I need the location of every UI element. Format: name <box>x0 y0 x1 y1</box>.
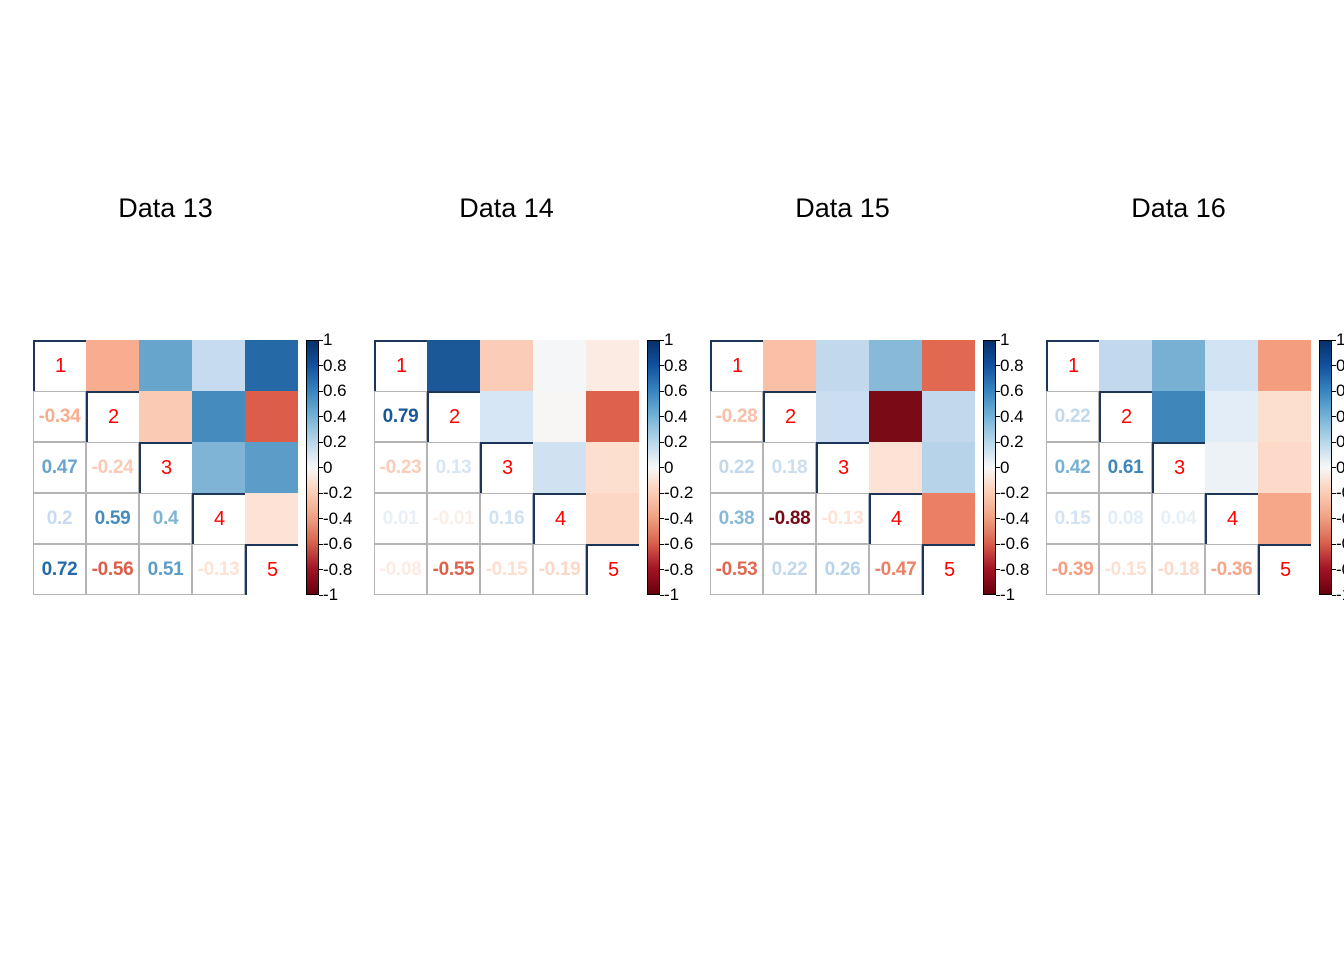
colorbar-tick: 0.4 <box>996 407 1024 427</box>
matrix-color-cell <box>245 340 298 391</box>
matrix-diagonal-cell: 4 <box>869 493 922 544</box>
matrix-value-cell: -0.13 <box>192 544 245 595</box>
matrix-color-cell <box>1205 442 1258 493</box>
colorbar-tick: -0.2 <box>660 483 693 503</box>
colorbar <box>306 340 319 595</box>
tick-label: -0.6 <box>1336 534 1344 554</box>
matrix-value-cell: -0.01 <box>427 493 480 544</box>
tick-label: -1 <box>323 585 338 605</box>
tick-label: 0.2 <box>323 432 347 452</box>
colorbar-tick: 0.2 <box>660 432 688 452</box>
matrix-diagonal-cell: 3 <box>139 442 192 493</box>
tick-label: -0.4 <box>1336 509 1344 529</box>
matrix-color-cell <box>586 493 639 544</box>
matrix-color-cell <box>1258 442 1311 493</box>
matrix-diagonal-cell: 2 <box>427 391 480 442</box>
matrix-color-cell <box>869 391 922 442</box>
matrix-value-cell: 0.38 <box>710 493 763 544</box>
matrix-color-cell <box>245 493 298 544</box>
colorbar-tick: 0.2 <box>1332 432 1344 452</box>
tick-label: 1 <box>664 330 673 350</box>
tick-label: -0.2 <box>323 483 352 503</box>
colorbar-ticks: 10.80.60.40.20-0.2-0.4-0.6-0.8-1 <box>1332 340 1344 595</box>
matrix-diagonal-cell: 3 <box>1152 442 1205 493</box>
matrix-color-cell <box>480 391 533 442</box>
matrix-diagonal-cell: 2 <box>763 391 816 442</box>
tick-label: 0.2 <box>1336 432 1344 452</box>
colorbar-tick: -0.2 <box>319 483 352 503</box>
colorbar-tick: -0.4 <box>660 509 693 529</box>
colorbar-tick: -0.6 <box>1332 534 1344 554</box>
tick-label: -0.2 <box>1336 483 1344 503</box>
colorbar-tick: 0.6 <box>319 381 347 401</box>
tick-label: 0.2 <box>1000 432 1024 452</box>
matrix-color-cell <box>245 442 298 493</box>
tick-label: 0.4 <box>1000 407 1024 427</box>
tick-label: 0.6 <box>1000 381 1024 401</box>
matrix-color-cell <box>922 391 975 442</box>
matrix-color-cell <box>816 340 869 391</box>
colorbar-tick: 0 <box>1332 458 1344 478</box>
matrix-value-cell: 0.61 <box>1099 442 1152 493</box>
tick-label: -0.8 <box>1336 560 1344 580</box>
matrix-value-cell: -0.13 <box>816 493 869 544</box>
matrix-color-cell <box>139 340 192 391</box>
colorbar <box>647 340 660 595</box>
matrix-value-cell: 0.47 <box>33 442 86 493</box>
colorbar-ticks: 10.80.60.40.20-0.2-0.4-0.6-0.8-1 <box>319 340 367 595</box>
matrix-value-cell: -0.36 <box>1205 544 1258 595</box>
colorbar-tick: 0.8 <box>319 356 347 376</box>
colorbar-tick: -1 <box>996 585 1015 605</box>
colorbar-ticks: 10.80.60.40.20-0.2-0.4-0.6-0.8-1 <box>996 340 1044 595</box>
tick-label: 0.8 <box>1000 356 1024 376</box>
colorbar-tick: -0.6 <box>319 534 352 554</box>
matrix-diagonal-cell: 2 <box>1099 391 1152 442</box>
matrix-diagonal-cell: 2 <box>86 391 139 442</box>
colorbar-tick: 1 <box>660 330 673 350</box>
matrix-value-cell: 0.01 <box>374 493 427 544</box>
colorbar-tick: 0.4 <box>660 407 688 427</box>
tick-label: 0.4 <box>323 407 347 427</box>
matrix-color-cell <box>586 442 639 493</box>
colorbar-tick: -0.8 <box>660 560 693 580</box>
matrix-color-cell <box>586 340 639 391</box>
matrix-diagonal-cell: 1 <box>374 340 427 391</box>
tick-label: 0.8 <box>323 356 347 376</box>
colorbar-tick: -0.2 <box>1332 483 1344 503</box>
matrix-diagonal-cell: 1 <box>710 340 763 391</box>
matrix-value-cell: -0.08 <box>374 544 427 595</box>
colorbar-tick: -0.8 <box>319 560 352 580</box>
matrix-diagonal-cell: 5 <box>1258 544 1311 595</box>
tick-label: -1 <box>1336 585 1344 605</box>
matrix-diagonal-cell: 5 <box>586 544 639 595</box>
matrix-value-cell: -0.47 <box>869 544 922 595</box>
matrix-value-cell: 0.18 <box>763 442 816 493</box>
tick-label: 1 <box>1000 330 1009 350</box>
matrix-value-cell: 0.08 <box>1099 493 1152 544</box>
tick-label: 0 <box>323 458 332 478</box>
matrix-color-cell <box>139 391 192 442</box>
matrix-diagonal-cell: 4 <box>1205 493 1258 544</box>
tick-label: -0.8 <box>1000 560 1029 580</box>
matrix-color-cell <box>922 493 975 544</box>
colorbar-tick: 0 <box>660 458 673 478</box>
matrix-color-cell <box>869 442 922 493</box>
colorbar-tick: 0.4 <box>1332 407 1344 427</box>
matrix-color-cell <box>533 442 586 493</box>
matrix-diagonal-cell: 1 <box>33 340 86 391</box>
matrix-color-cell <box>869 340 922 391</box>
colorbar-tick: -0.4 <box>319 509 352 529</box>
matrix-value-cell: 0.15 <box>1046 493 1099 544</box>
matrix-diagonal-cell: 4 <box>192 493 245 544</box>
matrix-color-cell <box>1152 340 1205 391</box>
tick-label: -1 <box>1000 585 1015 605</box>
matrix-color-cell <box>245 391 298 442</box>
matrix-value-cell: 0.04 <box>1152 493 1205 544</box>
colorbar-tick: 1 <box>996 330 1009 350</box>
matrix-value-cell: -0.55 <box>427 544 480 595</box>
tick-label: -0.8 <box>323 560 352 580</box>
tick-label: 0.6 <box>1336 381 1344 401</box>
matrix-color-cell <box>192 340 245 391</box>
tick-label: 0 <box>1336 458 1344 478</box>
matrix-diagonal-cell: 3 <box>816 442 869 493</box>
matrix-color-cell <box>1152 391 1205 442</box>
colorbar-tick: -1 <box>319 585 338 605</box>
matrix-color-cell <box>586 391 639 442</box>
tick-label: 0.4 <box>1336 407 1344 427</box>
matrix-value-cell: -0.34 <box>33 391 86 442</box>
matrix-color-cell <box>922 442 975 493</box>
matrix-color-cell <box>192 442 245 493</box>
colorbar-tick: -0.2 <box>996 483 1029 503</box>
colorbar-tick: 0.4 <box>319 407 347 427</box>
colorbar-tick: -0.4 <box>1332 509 1344 529</box>
correlation-matrix: 1-0.3420.47-0.2430.20.590.440.72-0.560.5… <box>33 340 298 595</box>
tick-label: -0.4 <box>1000 509 1029 529</box>
matrix-color-cell <box>816 391 869 442</box>
matrix-color-cell <box>86 340 139 391</box>
matrix-color-cell <box>922 340 975 391</box>
tick-label: 0.6 <box>323 381 347 401</box>
colorbar-tick: -0.8 <box>996 560 1029 580</box>
matrix-value-cell: 0.4 <box>139 493 192 544</box>
tick-label: 0.6 <box>664 381 688 401</box>
colorbar-tick: -1 <box>1332 585 1344 605</box>
colorbar-tick: 0.8 <box>996 356 1024 376</box>
tick-label: 0.8 <box>664 356 688 376</box>
matrix-diagonal-cell: 5 <box>922 544 975 595</box>
matrix-color-cell <box>480 340 533 391</box>
tick-label: -0.2 <box>1000 483 1029 503</box>
matrix-value-cell: -0.88 <box>763 493 816 544</box>
tick-label: 1 <box>1336 330 1344 350</box>
panel-title: Data 16 <box>1046 193 1311 224</box>
matrix-value-cell: 0.16 <box>480 493 533 544</box>
tick-label: -1 <box>664 585 679 605</box>
correlation-matrix: 10.2220.420.6130.150.080.044-0.39-0.15-0… <box>1046 340 1311 595</box>
tick-label: 0 <box>664 458 673 478</box>
tick-label: -0.8 <box>664 560 693 580</box>
colorbar-tick: 0 <box>319 458 332 478</box>
matrix-value-cell: -0.23 <box>374 442 427 493</box>
matrix-value-cell: 0.26 <box>816 544 869 595</box>
matrix-value-cell: 0.13 <box>427 442 480 493</box>
matrix-diagonal-cell: 3 <box>480 442 533 493</box>
matrix-value-cell: -0.19 <box>533 544 586 595</box>
panel-title: Data 14 <box>374 193 639 224</box>
colorbar-tick: -0.6 <box>660 534 693 554</box>
matrix-color-cell <box>1099 340 1152 391</box>
colorbar-tick: 0.6 <box>660 381 688 401</box>
colorbar <box>1319 340 1332 595</box>
colorbar-tick: 0.6 <box>996 381 1024 401</box>
matrix-value-cell: 0.42 <box>1046 442 1099 493</box>
matrix-color-cell <box>1205 391 1258 442</box>
matrix-diagonal-cell: 4 <box>533 493 586 544</box>
colorbar-tick: 1 <box>1332 330 1344 350</box>
matrix-color-cell <box>427 340 480 391</box>
tick-label: -0.6 <box>664 534 693 554</box>
panel-title: Data 13 <box>33 193 298 224</box>
tick-label: 0 <box>1000 458 1009 478</box>
tick-label: -0.4 <box>664 509 693 529</box>
matrix-value-cell: 0.2 <box>33 493 86 544</box>
matrix-color-cell <box>1258 493 1311 544</box>
colorbar-tick: 1 <box>319 330 332 350</box>
colorbar-tick: 0.8 <box>1332 356 1344 376</box>
matrix-color-cell <box>533 340 586 391</box>
colorbar-tick: -1 <box>660 585 679 605</box>
tick-label: -0.6 <box>323 534 352 554</box>
matrix-color-cell <box>1258 340 1311 391</box>
matrix-value-cell: -0.28 <box>710 391 763 442</box>
matrix-color-cell <box>763 340 816 391</box>
panel-title: Data 15 <box>710 193 975 224</box>
tick-label: -0.2 <box>664 483 693 503</box>
tick-label: 0.4 <box>664 407 688 427</box>
tick-label: -0.4 <box>323 509 352 529</box>
matrix-value-cell: 0.79 <box>374 391 427 442</box>
matrix-diagonal-cell: 1 <box>1046 340 1099 391</box>
matrix-diagonal-cell: 5 <box>245 544 298 595</box>
tick-label: 0.2 <box>664 432 688 452</box>
matrix-value-cell: 0.51 <box>139 544 192 595</box>
colorbar-tick: 0.2 <box>996 432 1024 452</box>
colorbar-tick: -0.8 <box>1332 560 1344 580</box>
matrix-value-cell: -0.39 <box>1046 544 1099 595</box>
matrix-color-cell <box>533 391 586 442</box>
tick-label: 1 <box>323 330 332 350</box>
correlation-matrix: 10.792-0.230.1330.01-0.010.164-0.08-0.55… <box>374 340 639 595</box>
matrix-value-cell: 0.22 <box>763 544 816 595</box>
colorbar-tick: 0 <box>996 458 1009 478</box>
matrix-value-cell: 0.22 <box>710 442 763 493</box>
tick-label: 0.8 <box>1336 356 1344 376</box>
matrix-value-cell: 0.22 <box>1046 391 1099 442</box>
matrix-value-cell: -0.56 <box>86 544 139 595</box>
colorbar-tick: -0.4 <box>996 509 1029 529</box>
matrix-value-cell: 0.72 <box>33 544 86 595</box>
colorbar-tick: 0.6 <box>1332 381 1344 401</box>
matrix-value-cell: -0.18 <box>1152 544 1205 595</box>
colorbar <box>983 340 996 595</box>
matrix-color-cell <box>1258 391 1311 442</box>
colorbar-tick: 0.8 <box>660 356 688 376</box>
matrix-value-cell: -0.15 <box>480 544 533 595</box>
matrix-value-cell: 0.59 <box>86 493 139 544</box>
correlation-matrix: 1-0.2820.220.1830.38-0.88-0.134-0.530.22… <box>710 340 975 595</box>
colorbar-tick: -0.6 <box>996 534 1029 554</box>
matrix-value-cell: -0.15 <box>1099 544 1152 595</box>
tick-label: -0.6 <box>1000 534 1029 554</box>
colorbar-tick: 0.2 <box>319 432 347 452</box>
matrix-color-cell <box>192 391 245 442</box>
matrix-value-cell: -0.53 <box>710 544 763 595</box>
correlation-matrix-figure: Data 131-0.3420.47-0.2430.20.590.440.72-… <box>0 0 1344 960</box>
matrix-value-cell: -0.24 <box>86 442 139 493</box>
matrix-color-cell <box>1205 340 1258 391</box>
colorbar-ticks: 10.80.60.40.20-0.2-0.4-0.6-0.8-1 <box>660 340 708 595</box>
